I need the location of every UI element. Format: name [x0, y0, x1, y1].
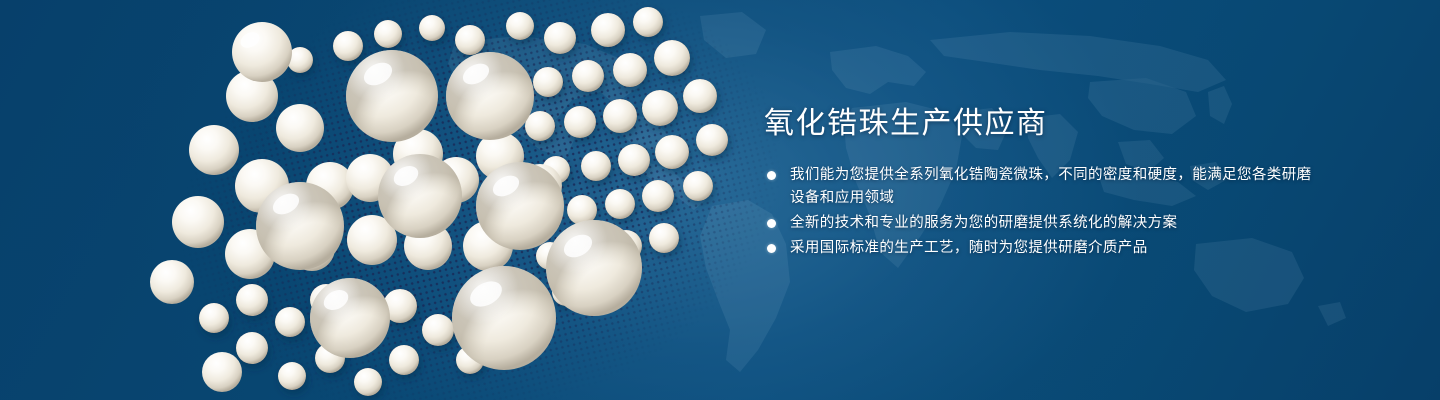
hero-banner: 氧化锆珠生产供应商 我们能为您提供全系列氧化锆陶瓷微珠，不同的密度和硬度，能满足… — [0, 0, 1440, 400]
bullet-circle-icon — [767, 244, 776, 253]
bullet-text-2: 全新的技术和专业的服务为您的研磨提供系统化的解决方案 — [790, 215, 1177, 231]
bullet-text-1: 我们能为您提供全系列氧化锆陶瓷微珠，不同的密度和硬度，能满足您各类研磨设备和应用… — [790, 167, 1312, 206]
banner-headline: 氧化锆珠生产供应商 — [764, 104, 1324, 144]
bullet-text-3: 采用国际标准的生产工艺，随时为您提供研磨介质产品 — [790, 240, 1148, 256]
bullet-item-3: 采用国际标准的生产工艺，随时为您提供研磨介质产品 — [764, 237, 1324, 260]
banner-content: 氧化锆珠生产供应商 我们能为您提供全系列氧化锆陶瓷微珠，不同的密度和硬度，能满足… — [764, 104, 1324, 262]
bullet-item-2: 全新的技术和专业的服务为您的研磨提供系统化的解决方案 — [764, 212, 1324, 235]
feature-bullet-list: 我们能为您提供全系列氧化锆陶瓷微珠，不同的密度和硬度，能满足您各类研磨设备和应用… — [764, 164, 1324, 260]
bullet-circle-icon — [767, 219, 776, 228]
bullet-item-1: 我们能为您提供全系列氧化锆陶瓷微珠，不同的密度和硬度，能满足您各类研磨设备和应用… — [764, 164, 1324, 210]
bullet-circle-icon — [767, 171, 776, 180]
